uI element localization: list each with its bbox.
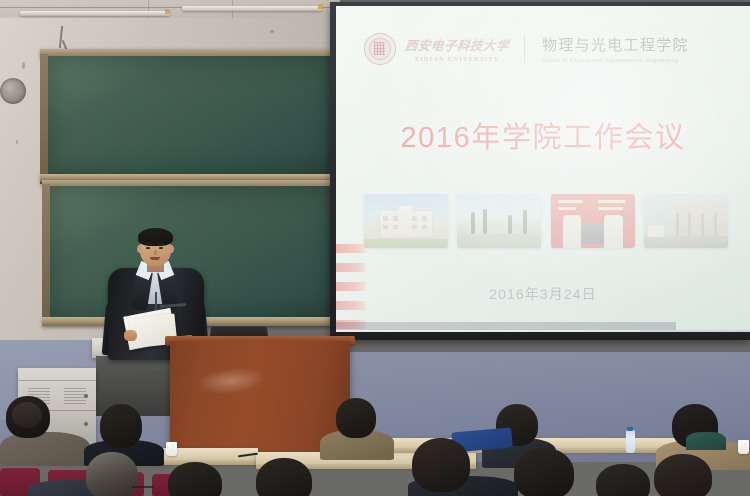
department-name-en: School of Physics and Optoelectronic Eng… xyxy=(542,58,689,64)
header-divider xyxy=(524,35,525,63)
audience-member-head xyxy=(596,464,650,496)
eyeglasses-icon xyxy=(132,486,154,488)
audience-member-head xyxy=(100,404,142,448)
department-name-block: 物理与光电工程学院 School of Physics and Optoelec… xyxy=(542,34,689,64)
wall-shadow xyxy=(336,322,676,330)
slide-thumbnail-strip xyxy=(364,194,728,248)
wall-vent-icon xyxy=(0,78,26,104)
speaker-ear-right xyxy=(169,245,174,253)
ceiling-light-icon xyxy=(20,11,170,16)
audience-member-scarf xyxy=(686,432,726,450)
paper-cup xyxy=(738,440,749,454)
speaker-eye-left xyxy=(146,247,150,249)
ceiling-light-end-cap xyxy=(318,4,323,9)
ceiling-light-icon xyxy=(182,6,322,11)
wall-mark xyxy=(22,62,25,69)
award-ceremony-photo xyxy=(551,194,635,248)
audience-member-hair xyxy=(12,402,42,428)
university-name-en: XIDIAN UNIVERSITY xyxy=(414,56,499,63)
audience-member-head xyxy=(86,452,138,496)
slide-title: 2016年学院工作会议 xyxy=(336,114,750,156)
university-seal-icon xyxy=(364,33,396,65)
ceiling-light-end-cap xyxy=(165,9,170,14)
campus-building-photo xyxy=(364,194,448,248)
slide-header: 西安电子科技大学 XIDIAN UNIVERSITY 物理与光电工程学院 Sch… xyxy=(364,28,734,70)
projected-slide: 西安电子科技大学 XIDIAN UNIVERSITY 物理与光电工程学院 Sch… xyxy=(336,6,750,332)
speaker-nose xyxy=(154,250,157,255)
paper-cup xyxy=(166,442,177,456)
audience-member-head xyxy=(412,438,470,492)
audience-member-head xyxy=(256,458,312,496)
campus-plaza-photo xyxy=(457,194,541,248)
audience-member-shoulders xyxy=(0,432,90,466)
university-name-block: 西安电子科技大学 XIDIAN UNIVERSITY xyxy=(405,35,509,63)
slide-date: 2016年3月24日 xyxy=(336,284,750,304)
speaker-eyebrow-left xyxy=(145,243,151,245)
campus-gate-photo xyxy=(644,194,728,248)
speaker-ear-left xyxy=(137,245,142,253)
audience-member-head xyxy=(514,448,574,496)
wall-mark xyxy=(270,30,274,33)
audience-member-head xyxy=(336,398,376,438)
bottle-cap xyxy=(627,427,633,431)
speaker-eyebrow-right xyxy=(158,243,164,245)
lecture-hall-photo: 西安电子科技大学 XIDIAN UNIVERSITY 物理与光电工程学院 Sch… xyxy=(0,0,750,496)
water-bottle xyxy=(626,430,635,453)
slide-decor-stripes xyxy=(336,244,366,332)
audience-member-head xyxy=(168,462,222,496)
chalkboard-frame-left xyxy=(40,54,48,184)
university-name-cn: 西安电子科技大学 xyxy=(404,35,510,54)
department-name-cn: 物理与光电工程学院 xyxy=(542,34,689,55)
chalkboard-upper xyxy=(46,56,336,177)
chalkboard-frame-left xyxy=(42,184,50,324)
speaker-eye-right xyxy=(159,247,163,249)
speaker-hand xyxy=(124,330,137,341)
wall-mark xyxy=(16,140,18,144)
audience-member-head xyxy=(654,454,712,496)
wall-shadow xyxy=(640,330,750,335)
speaker-hair xyxy=(138,228,173,246)
speaker-mouth xyxy=(150,257,160,260)
